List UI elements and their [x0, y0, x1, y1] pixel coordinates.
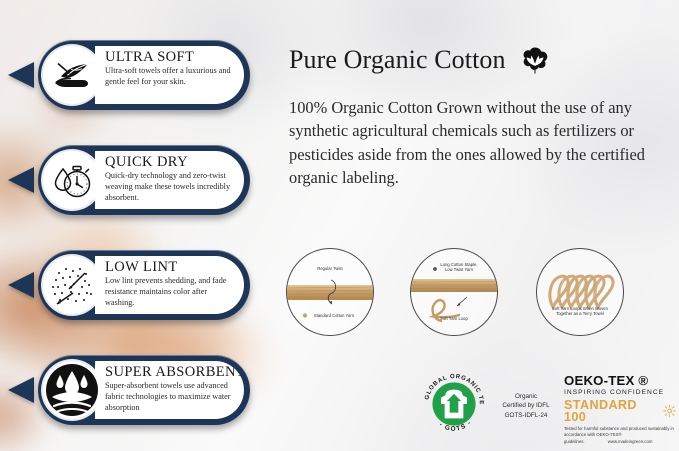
feature-badge-quick-dry: QUICK DRY Quick-dry technology and zero-… — [38, 145, 250, 215]
badge-panel: QUICK DRY Quick-dry technology and zero-… — [95, 151, 244, 209]
fine-print-line1: Tested for harmful substance and produce… — [564, 426, 674, 437]
feature-badge-super-absorbent: SUPER ABSORBENT: Super-absorbent towels … — [38, 355, 250, 425]
badge-title: QUICK DRY — [105, 155, 234, 170]
regular-twist-yarn-icon — [287, 249, 373, 335]
badge-description: Low lint prevents shedding, and fade res… — [105, 276, 234, 308]
stopwatch-droplet-icon — [43, 151, 101, 209]
yarn-diagram-terry-loops: Soft Yarn Loops When Woven Together as a… — [536, 248, 624, 336]
badge-tail — [8, 377, 34, 403]
feature-badge-low-lint: LOW LINT Low lint prevents shedding, and… — [38, 250, 250, 320]
badge-description: Super-absorbent towels use advanced fabr… — [105, 381, 234, 413]
yarn-diagram-low-twist: Long Cotton Staple, Low Twist Yarn Soft … — [410, 248, 498, 336]
badge-tail — [8, 167, 34, 193]
gots-caption: Organic Certified by IDFL GOTS-IDFL-24 — [498, 392, 554, 420]
yarn-top-label: Long Cotton Staple, Low Twist Yarn — [411, 262, 497, 273]
badge-panel: LOW LINT Low lint prevents shedding, and… — [95, 256, 244, 314]
yarn-diagram-group: Regular Twist Standard Cotton Yarn Long … — [282, 248, 674, 348]
badge-description: Quick-dry technology and zero-twist weav… — [105, 171, 234, 203]
yarn-diagram-regular-twist: Regular Twist Standard Cotton Yarn — [286, 248, 374, 336]
yarn-bottom-label: Soft Yarn Loops When Woven Together as a… — [537, 306, 623, 317]
oeko-tex-title: OEKO-TEX ® — [564, 374, 676, 387]
badge-title: SUPER ABSORBENT: — [105, 365, 234, 380]
fine-print-line2: guidelines. — [564, 439, 585, 444]
gots-logo-icon: GLOBAL ORGANIC TEXTILE STANDARD - GOTS - — [418, 368, 490, 440]
sun-burst-icon — [663, 404, 676, 418]
cotton-boll-icon — [518, 43, 552, 77]
yarn-bottom-label: Soft Yarn Loop — [411, 316, 497, 321]
body-copy: 100% Organic Cotton Grown without the us… — [289, 96, 667, 189]
yarn-top-label: Regular Twist — [287, 266, 373, 271]
yarn-bottom-label: Standard Cotton Yarn — [287, 313, 373, 318]
oeko-tex-subtitle: INSPIRING CONFIDENCE — [564, 390, 676, 397]
water-absorb-icon — [43, 361, 101, 419]
badge-title: LOW LINT — [105, 260, 234, 275]
badge-title: ULTRA SOFT — [105, 50, 234, 65]
oeko-tex-standard: STANDARD 100 — [564, 399, 658, 424]
headline-text: Pure Organic Cotton — [289, 45, 506, 75]
badge-tail — [8, 272, 34, 298]
badge-panel: ULTRA SOFT Ultra-soft towels offer a lux… — [95, 46, 244, 104]
terry-loops-icon — [537, 249, 623, 335]
oeko-tex-logo-icon: OEKO-TEX ® INSPIRING CONFIDENCE STANDARD… — [564, 374, 676, 445]
badge-panel: SUPER ABSORBENT: Super-absorbent towels … — [95, 361, 244, 419]
lint-particles-icon — [43, 256, 101, 314]
feature-badge-ultra-soft: ULTRA SOFT Ultra-soft towels offer a lux… — [38, 40, 250, 110]
oeko-tex-url: www.madeingreen.com — [608, 439, 653, 444]
oeko-tex-fine-print: Tested for harmful substance and produce… — [564, 426, 674, 445]
hand-feather-icon — [43, 46, 101, 104]
badge-description: Ultra-soft towels offer a luxurious and … — [105, 66, 234, 88]
certification-row: GLOBAL ORGANIC TEXTILE STANDARD - GOTS -… — [418, 362, 676, 446]
page-title: Pure Organic Cotton — [289, 43, 552, 77]
badge-tail — [8, 62, 34, 88]
feature-badge-list: ULTRA SOFT Ultra-soft towels offer a lux… — [0, 0, 280, 451]
